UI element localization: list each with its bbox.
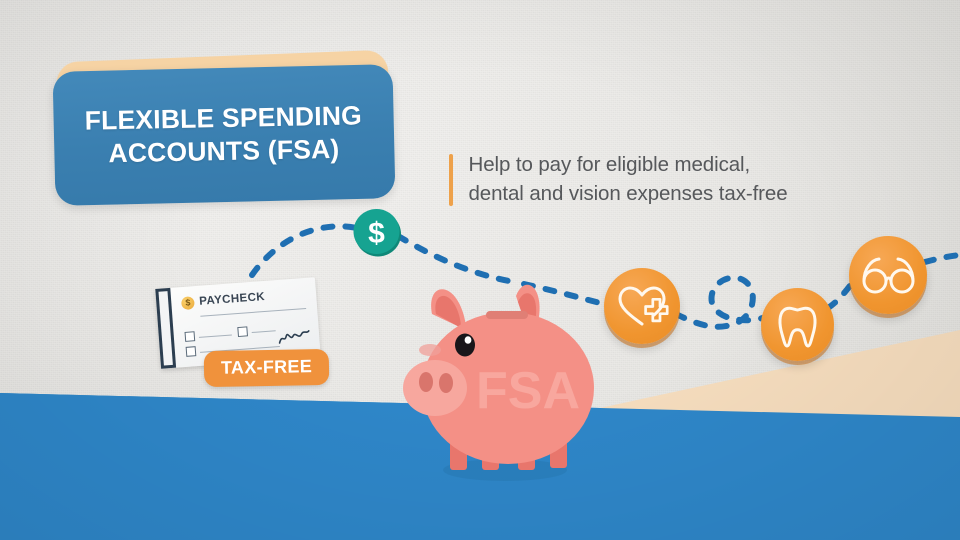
accent-bar	[449, 154, 453, 206]
fsa-infographic-slide: FLEXIBLE SPENDING ACCOUNTS (FSA) Help to…	[0, 0, 960, 540]
check-checkbox	[185, 331, 196, 342]
page-title: FLEXIBLE SPENDING ACCOUNTS (FSA)	[71, 99, 377, 171]
svg-text:$: $	[368, 217, 385, 250]
title-card: FLEXIBLE SPENDING ACCOUNTS (FSA)	[53, 64, 396, 206]
description-block: Help to pay for eligible medical, dental…	[449, 150, 788, 208]
piggy-bank-illustration: FSA	[398, 278, 614, 490]
title-line-1: FLEXIBLE SPENDING	[85, 100, 363, 135]
check-checkbox	[186, 346, 197, 357]
benefit-icon-dental[interactable]	[761, 288, 834, 361]
dollar-coin-icon: $	[352, 207, 402, 257]
description-text: Help to pay for eligible medical, dental…	[469, 150, 788, 208]
benefit-icon-vision[interactable]	[849, 236, 927, 314]
piggy-fsa-label: FSA	[476, 362, 580, 420]
tax-free-badge: TAX-FREE	[204, 349, 330, 387]
tooth-icon	[761, 288, 834, 361]
benefit-icon-medical[interactable]	[604, 268, 680, 344]
description-line-1: Help to pay for eligible medical,	[469, 153, 751, 176]
glasses-icon	[849, 236, 927, 314]
heart-plus-icon	[604, 268, 680, 344]
check-checkbox	[237, 326, 248, 337]
signature-icon	[278, 328, 311, 346]
description-line-2: dental and vision expenses tax-free	[469, 182, 788, 205]
title-line-2: ACCOUNTS (FSA)	[109, 134, 341, 168]
